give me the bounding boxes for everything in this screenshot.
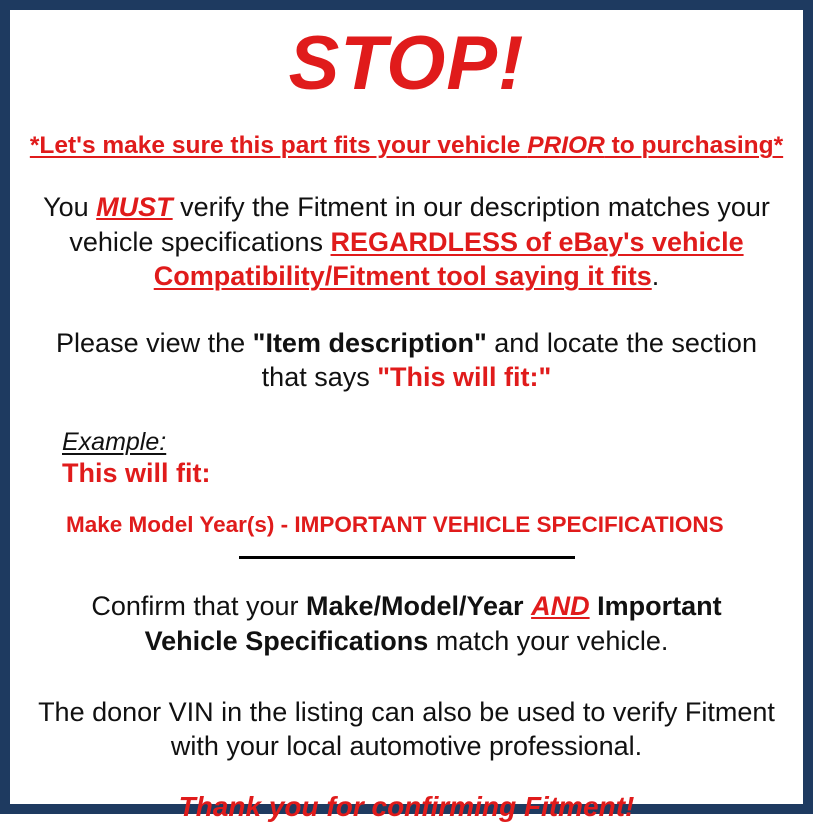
- divider-wrapper: [24, 556, 789, 559]
- paragraph-must-verify: You MUST verify the Fitment in our descr…: [24, 190, 789, 294]
- example-spec-line: Make Model Year(s) - IMPORTANT VEHICLE S…: [62, 511, 789, 538]
- view-segment-1: Please view the: [56, 328, 253, 358]
- this-will-fit-quote-emphasis: "This will fit:": [377, 362, 551, 392]
- example-label-row: Example:: [62, 429, 789, 457]
- and-emphasis: AND: [531, 591, 590, 621]
- stop-heading: STOP!: [24, 26, 789, 102]
- must-segment-3: .: [652, 261, 660, 291]
- item-description-emphasis: "Item description": [253, 328, 487, 358]
- paragraph-view-description: Please view the "Item description" and l…: [24, 326, 789, 395]
- tagline: *Let's make sure this part fits your veh…: [24, 132, 789, 160]
- must-emphasis: MUST: [96, 192, 173, 222]
- confirm-space-1: [524, 591, 532, 621]
- confirm-space-2: [590, 591, 598, 621]
- section-divider: [239, 556, 575, 559]
- tagline-segment-2: to purchasing*: [605, 132, 783, 159]
- confirm-segment-1: Confirm that your: [91, 591, 306, 621]
- confirm-segment-4: match your vehicle.: [428, 626, 668, 656]
- closing-thank-you: Thank you for confirming Fitment!: [24, 790, 789, 823]
- tagline-underlined-text: *Let's make sure this part fits your veh…: [30, 132, 783, 159]
- make-model-year-emphasis: Make/Model/Year: [306, 591, 524, 621]
- example-label: Example:: [62, 429, 166, 457]
- example-this-will-fit: This will fit:: [62, 458, 789, 489]
- must-segment-1: You: [43, 192, 96, 222]
- fitment-notice-card: STOP! *Let's make sure this part fits yo…: [0, 0, 813, 814]
- paragraph-donor-vin: The donor VIN in the listing can also be…: [24, 695, 789, 764]
- paragraph-confirm: Confirm that your Make/Model/Year AND Im…: [24, 589, 789, 658]
- tagline-prior-emphasis: PRIOR: [527, 132, 605, 159]
- tagline-segment-1: *Let's make sure this part fits your veh…: [30, 132, 527, 159]
- example-block: Example: This will fit: Make Model Year(…: [24, 429, 789, 539]
